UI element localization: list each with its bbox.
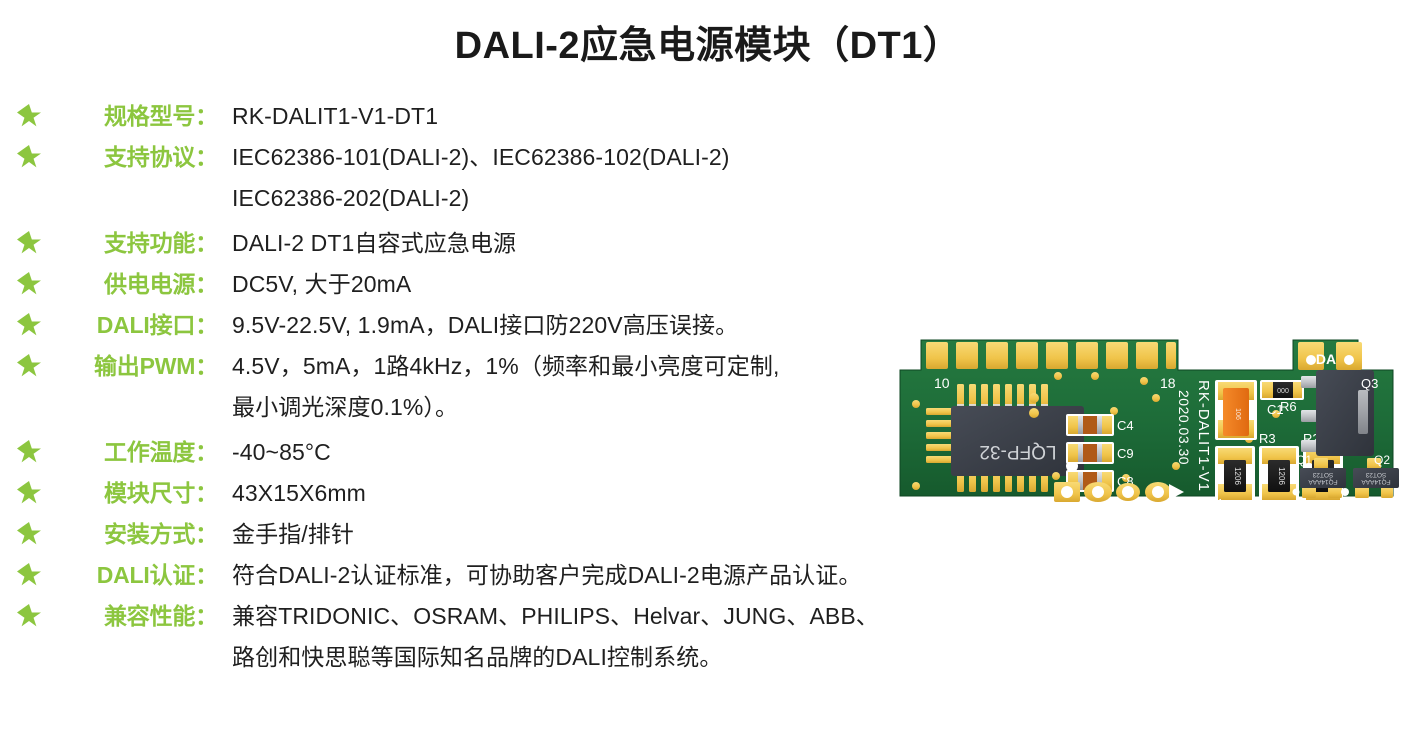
spec-row-continuation: IEC62386-202(DALI-2) <box>0 182 980 224</box>
silkscreen-pin-right: 18 <box>1160 375 1176 391</box>
silkscreen-board-date: 2020.03.30 <box>1176 390 1192 465</box>
spec-row: DALI接口： 9.5V-22.5V, 1.9mA，DALI接口防220V高压误… <box>0 309 980 347</box>
spec-row: 安装方式： 金手指/排针 <box>0 518 980 556</box>
star-bullet-cell <box>0 100 58 128</box>
spec-label: 兼容性能： <box>58 600 218 632</box>
spec-row: 供电电源： DC5V, 大于20mA <box>0 268 980 306</box>
star-icon <box>17 522 41 546</box>
star-icon <box>17 563 41 587</box>
spec-value: DC5V, 大于20mA <box>218 268 980 300</box>
svg-text:SOT23: SOT23 <box>1365 471 1386 478</box>
silkscreen-q2: Q2 <box>1374 453 1390 467</box>
spec-value: 9.5V-22.5V, 1.9mA，DALI接口防220V高压误接。 <box>218 309 980 341</box>
specification-list: 规格型号： RK-DALIT1-V1-DT1 支持协议： IEC62386-10… <box>0 100 980 686</box>
spec-value: 4.5V，5mA，1路4kHz，1%（频率和最小亮度可定制, <box>218 350 980 382</box>
star-bullet-cell <box>0 350 58 378</box>
spec-value: IEC62386-101(DALI-2)、IEC62386-102(DALI-2… <box>218 141 980 173</box>
silkscreen-pin-left: 10 <box>934 375 950 391</box>
pcb-product-image: DA 10 18 RK-DALIT1-V1 2020.03.30 <box>888 318 1404 530</box>
star-icon <box>17 313 41 337</box>
spec-row-continuation: 最小调光深度0.1%）。 <box>0 391 980 433</box>
page-title: DALI-2应急电源模块（DT1） <box>0 14 1416 69</box>
spec-label: 供电电源： <box>58 268 218 300</box>
spec-row-continuation: 路创和快思聪等国际知名品牌的DALI控制系统。 <box>0 641 980 683</box>
svg-text:FQ14AAA: FQ14AAA <box>1308 478 1338 485</box>
spec-value: 金手指/排针 <box>218 518 980 550</box>
star-bullet-cell <box>0 309 58 337</box>
spec-label: 安装方式： <box>58 518 218 550</box>
silkscreen-c9: C9 <box>1117 446 1134 461</box>
spec-row: 支持协议： IEC62386-101(DALI-2)、IEC62386-102(… <box>0 141 980 179</box>
silkscreen-chip-marking: LQFP-32 <box>979 441 1056 462</box>
spec-row: 输出PWM： 4.5V，5mA，1路4kHz，1%（频率和最小亮度可定制, <box>0 350 980 388</box>
star-icon <box>17 104 41 128</box>
spec-value: 最小调光深度0.1%）。 <box>218 391 980 423</box>
spec-value: 43X15X6mm <box>218 477 980 509</box>
star-icon <box>17 604 41 628</box>
star-bullet-cell <box>0 559 58 587</box>
star-bullet-cell <box>0 227 58 255</box>
spec-row: DALI认证： 符合DALI-2认证标准，可协助客户完成DALI-2电源产品认证… <box>0 559 980 597</box>
spec-row: 规格型号： RK-DALIT1-V1-DT1 <box>0 100 980 138</box>
svg-text:000: 000 <box>1277 388 1289 395</box>
silkscreen-r6: R6 <box>1280 399 1297 414</box>
spec-label: DALI认证： <box>58 559 218 591</box>
silkscreen-r4: R4 <box>1206 496 1223 511</box>
star-icon <box>17 440 41 464</box>
gold-finger-contacts <box>926 342 1176 369</box>
star-bullet-cell <box>0 141 58 169</box>
star-bullet-cell <box>0 477 58 505</box>
star-bullet-cell <box>0 182 58 210</box>
spec-value: RK-DALIT1-V1-DT1 <box>218 100 980 132</box>
svg-text:SOT23: SOT23 <box>1312 471 1333 478</box>
spec-row: 工作温度： -40~85°C <box>0 436 980 474</box>
silkscreen-c4: C4 <box>1117 418 1134 433</box>
spec-value: 符合DALI-2认证标准，可协助客户完成DALI-2电源产品认证。 <box>218 559 980 591</box>
star-bullet-cell <box>0 391 58 419</box>
star-icon <box>17 354 41 378</box>
spec-value: 兼容TRIDONIC、OSRAM、PHILIPS、Helvar、JUNG、ABB… <box>218 600 980 632</box>
spec-value: DALI-2 DT1自容式应急电源 <box>218 227 980 259</box>
spec-row: 支持功能： DALI-2 DT1自容式应急电源 <box>0 227 980 265</box>
star-icon <box>17 272 41 296</box>
spec-row: 兼容性能： 兼容TRIDONIC、OSRAM、PHILIPS、Helvar、JU… <box>0 600 980 638</box>
resistor-code-r3: 1206 <box>1277 467 1286 485</box>
spec-label: 工作温度： <box>58 436 218 468</box>
spec-label: 模块尺寸： <box>58 477 218 509</box>
silkscreen-r3: R3 <box>1259 431 1276 446</box>
spec-label: 规格型号： <box>58 100 218 132</box>
svg-text:106: 106 <box>1234 408 1241 420</box>
star-icon <box>17 481 41 505</box>
silkscreen-da-label: DA <box>1316 351 1336 367</box>
spec-label: 支持功能： <box>58 227 218 259</box>
spec-label: 支持协议： <box>58 141 218 173</box>
capacitor-cluster <box>1066 414 1114 492</box>
star-bullet-cell <box>0 268 58 296</box>
star-bullet-cell <box>0 436 58 464</box>
silkscreen-q3: Q3 <box>1361 376 1378 391</box>
spec-value: IEC62386-202(DALI-2) <box>218 182 980 214</box>
svg-text:FQ14AAA: FQ14AAA <box>1361 478 1391 485</box>
silkscreen-q1: Q1 <box>1296 453 1312 467</box>
resistor-code-r4: 1206 <box>1233 467 1242 485</box>
spec-label: 输出PWM： <box>58 350 218 382</box>
spec-label: DALI接口： <box>58 309 218 341</box>
star-bullet-cell <box>0 641 58 669</box>
silkscreen-board-name: RK-DALIT1-V1 <box>1195 380 1212 492</box>
product-spec-page: DALI-2应急电源模块（DT1） 规格型号： RK-DALIT1-V1-DT1… <box>0 0 1416 750</box>
star-bullet-cell <box>0 600 58 628</box>
star-bullet-cell <box>0 518 58 546</box>
spec-row: 模块尺寸： 43X15X6mm <box>0 477 980 515</box>
spec-value: -40~85°C <box>218 436 980 468</box>
star-icon <box>17 145 41 169</box>
spec-value: 路创和快思聪等国际知名品牌的DALI控制系统。 <box>218 641 980 673</box>
star-icon <box>17 231 41 255</box>
